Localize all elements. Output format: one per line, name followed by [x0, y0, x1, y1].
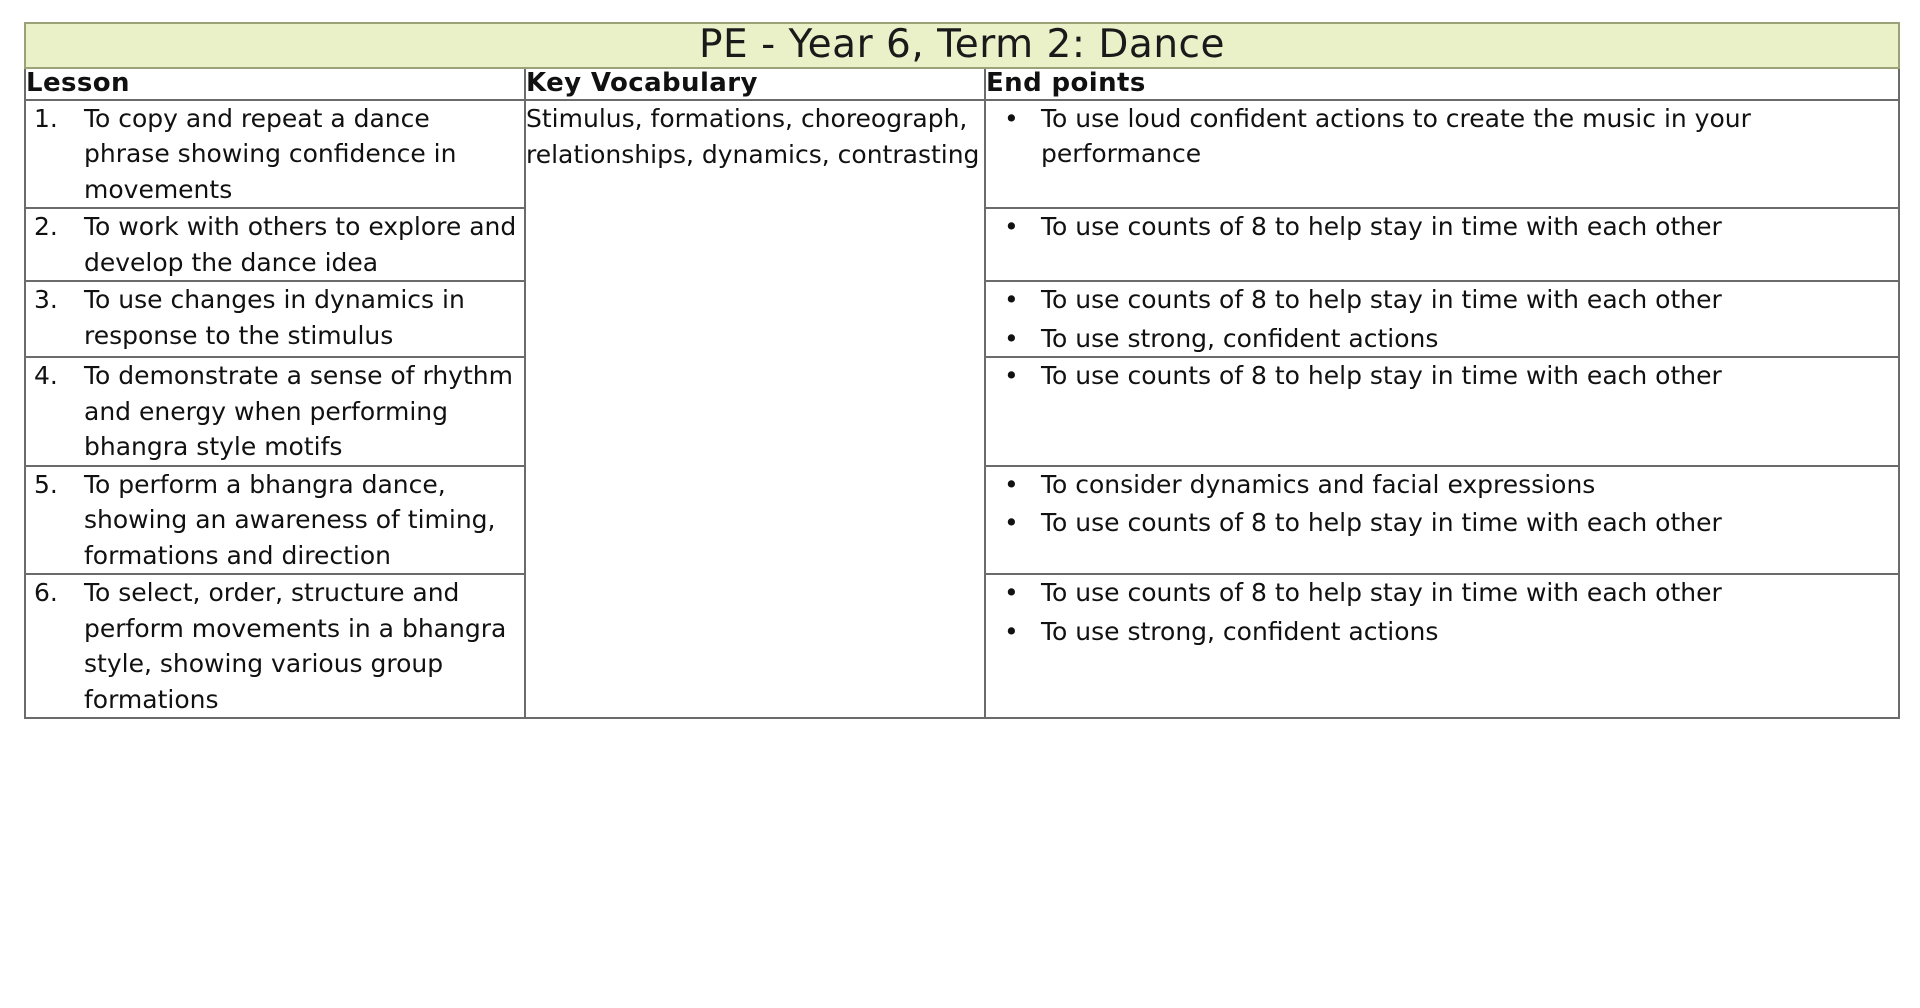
key-vocabulary-cell: Stimulus, formations, choreograph, relat…	[525, 100, 985, 719]
end-point-text: To use counts of 8 to help stay in time …	[1041, 282, 1898, 318]
end-point-text: To use counts of 8 to help stay in time …	[1041, 575, 1898, 611]
end-point-text: To use strong, confident actions	[1041, 321, 1898, 357]
lesson-number: 5.	[26, 467, 84, 503]
end-points-cell: • To use loud confident actions to creat…	[985, 100, 1899, 209]
lesson-cell: 4. To demonstrate a sense of rhythm and …	[25, 357, 525, 466]
curriculum-table: PE - Year 6, Term 2: Dance Lesson Key Vo…	[24, 22, 1900, 719]
lesson-cell: 1. To copy and repeat a dance phrase sho…	[25, 100, 525, 209]
lesson-cell: 6. To select, order, structure and perfo…	[25, 574, 525, 718]
end-point-text: To use counts of 8 to help stay in time …	[1041, 505, 1898, 541]
bullet-icon: •	[986, 614, 1041, 650]
bullet-icon: •	[986, 467, 1041, 503]
end-point-item: • To use counts of 8 to help stay in tim…	[986, 358, 1898, 394]
column-header-lesson-label: Lesson	[26, 69, 524, 99]
lesson-number: 3.	[26, 282, 84, 318]
lesson-number: 2.	[26, 209, 84, 245]
end-point-item: • To use strong, confident actions	[986, 614, 1898, 650]
column-header-end-points-label: End points	[986, 69, 1898, 99]
bullet-icon: •	[986, 358, 1041, 394]
lesson-objective: To demonstrate a sense of rhythm and ene…	[84, 358, 524, 465]
bullet-icon: •	[986, 101, 1041, 137]
end-point-item: • To use strong, confident actions	[986, 321, 1898, 357]
end-point-item: • To use counts of 8 to help stay in tim…	[986, 282, 1898, 318]
end-points-cell: • To use counts of 8 to help stay in tim…	[985, 281, 1899, 357]
end-point-text: To use loud confident actions to create …	[1041, 101, 1898, 172]
end-point-text: To use counts of 8 to help stay in time …	[1041, 358, 1898, 394]
end-points-cell: • To use counts of 8 to help stay in tim…	[985, 357, 1899, 466]
lesson-cell: 5. To perform a bhangra dance, showing a…	[25, 466, 525, 575]
curriculum-sheet: PE - Year 6, Term 2: Dance Lesson Key Vo…	[24, 22, 1898, 719]
bullet-icon: •	[986, 282, 1041, 318]
bullet-icon: •	[986, 505, 1041, 541]
end-points-cell: • To use counts of 8 to help stay in tim…	[985, 208, 1899, 281]
lesson-cell: 3. To use changes in dynamics in respons…	[25, 281, 525, 357]
page-title: PE - Year 6, Term 2: Dance	[26, 24, 1898, 67]
end-point-item: • To use loud confident actions to creat…	[986, 101, 1898, 172]
title-banner: PE - Year 6, Term 2: Dance	[25, 23, 1899, 68]
end-point-text: To use strong, confident actions	[1041, 614, 1898, 650]
table-row: 1. To copy and repeat a dance phrase sho…	[25, 100, 1899, 209]
end-point-text: To use counts of 8 to help stay in time …	[1041, 209, 1898, 245]
end-point-item: • To use counts of 8 to help stay in tim…	[986, 209, 1898, 245]
end-points-cell: • To consider dynamics and facial expres…	[985, 466, 1899, 575]
column-header-key-vocabulary-label: Key Vocabulary	[526, 69, 984, 99]
column-header-end-points: End points	[985, 68, 1899, 100]
header-row: Lesson Key Vocabulary End points	[25, 68, 1899, 100]
bullet-icon: •	[986, 575, 1041, 611]
lesson-objective: To work with others to explore and devel…	[84, 209, 524, 280]
page-root: PE - Year 6, Term 2: Dance Lesson Key Vo…	[0, 0, 1920, 1008]
end-point-text: To consider dynamics and facial expressi…	[1041, 467, 1898, 503]
bullet-icon: •	[986, 209, 1041, 245]
title-row: PE - Year 6, Term 2: Dance	[25, 23, 1899, 68]
column-header-lesson: Lesson	[25, 68, 525, 100]
end-point-item: • To use counts of 8 to help stay in tim…	[986, 505, 1898, 541]
end-point-item: • To use counts of 8 to help stay in tim…	[986, 575, 1898, 611]
column-header-key-vocabulary: Key Vocabulary	[525, 68, 985, 100]
bullet-icon: •	[986, 321, 1041, 357]
end-point-item: • To consider dynamics and facial expres…	[986, 467, 1898, 503]
end-points-cell: • To use counts of 8 to help stay in tim…	[985, 574, 1899, 718]
lesson-number: 1.	[26, 101, 84, 137]
lesson-objective: To select, order, structure and perform …	[84, 575, 524, 717]
lesson-number: 6.	[26, 575, 84, 611]
lesson-number: 4.	[26, 358, 84, 394]
key-vocabulary-text: Stimulus, formations, choreograph, relat…	[526, 101, 984, 174]
lesson-cell: 2. To work with others to explore and de…	[25, 208, 525, 281]
lesson-objective: To copy and repeat a dance phrase showin…	[84, 101, 524, 208]
lesson-objective: To use changes in dynamics in response t…	[84, 282, 524, 353]
lesson-objective: To perform a bhangra dance, showing an a…	[84, 467, 524, 574]
